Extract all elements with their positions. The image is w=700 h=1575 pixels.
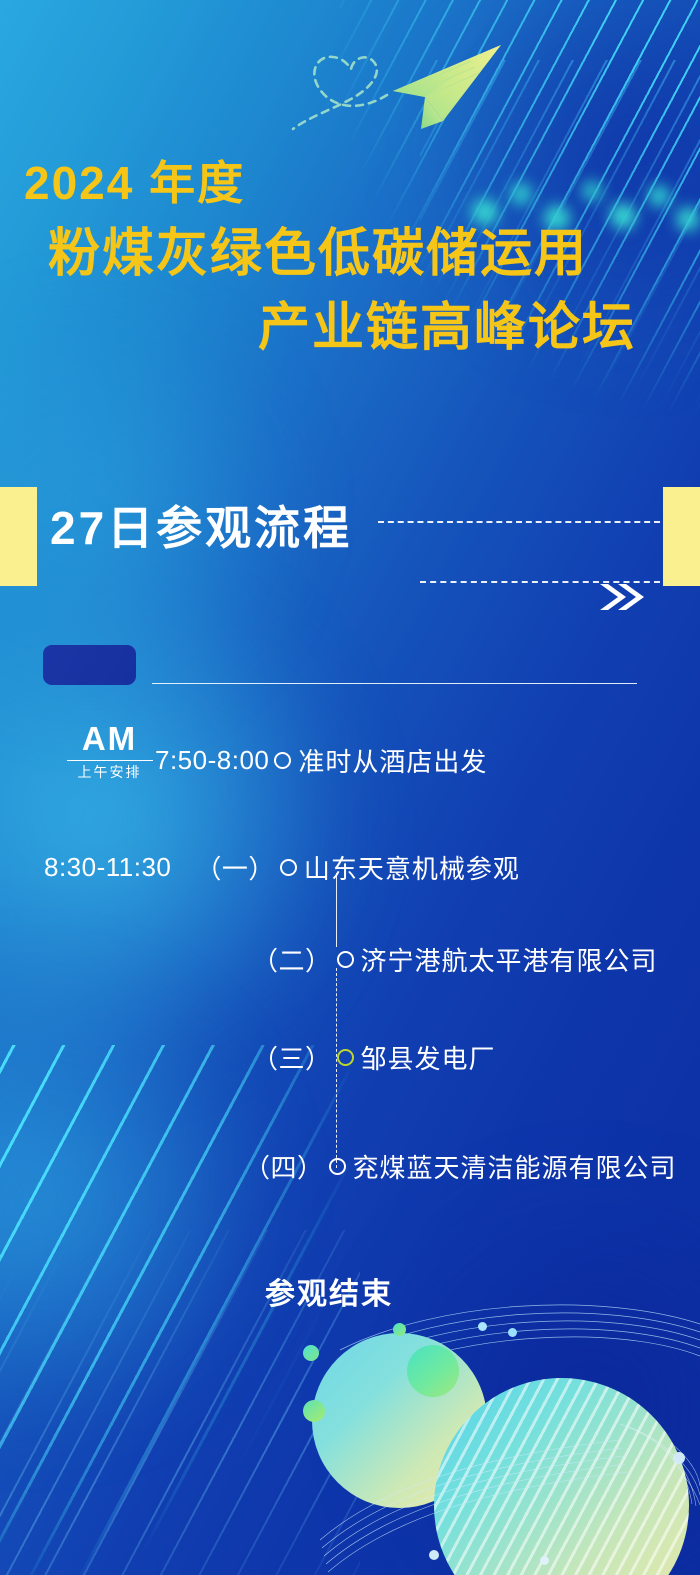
title-line-forum: 产业链高峰论坛 <box>258 302 700 354</box>
floating-dot <box>508 1328 517 1337</box>
floating-dot <box>429 1550 439 1560</box>
poster-title-block: 2024 年度 粉煤灰绿色低碳储运用 产业链高峰论坛 <box>0 160 700 354</box>
period-abbrev: AM <box>52 722 167 755</box>
sub-header-row <box>0 645 700 691</box>
schedule-time: 7:50-8:00 <box>155 745 269 776</box>
schedule-row: 7:50-8:00 准时从酒店出发 <box>155 742 487 779</box>
schedule-activity: 兖煤蓝天清洁能源有限公司 <box>353 1148 677 1185</box>
title-line-topic: 粉煤灰绿色低碳储运用 <box>48 228 700 280</box>
section-heading: 27日参观流程 <box>50 501 352 556</box>
schedule-activity: 准时从酒店出发 <box>298 742 487 779</box>
schedule-marker-dot <box>337 1049 354 1066</box>
period-sublabel: 上午安排 <box>52 765 167 779</box>
section-accent-bar-right <box>663 487 700 586</box>
schedule-index: （一） <box>195 849 275 886</box>
double-chevron-right-icon <box>598 580 648 614</box>
schedule-row: （三） 邹县发电厂 <box>252 1039 496 1076</box>
schedule-index: （三） <box>252 1039 332 1076</box>
schedule-activity: 山东天意机械参观 <box>304 849 520 886</box>
schedule-time: 8:30-11:30 <box>44 852 171 883</box>
schedule-marker-dot <box>280 859 297 876</box>
floating-dot <box>303 1345 319 1361</box>
schedule-row: （四） 兖煤蓝天清洁能源有限公司 <box>244 1148 677 1185</box>
paper-plane-icon <box>275 25 525 145</box>
floating-dot <box>673 1452 685 1464</box>
background-glow-left-upper <box>0 560 360 1080</box>
schedule-row: （二） 济宁港航太平港有限公司 <box>252 941 658 978</box>
background-glow-left-lower <box>0 960 280 1440</box>
poster-canvas: 2024 年度 粉煤灰绿色低碳储运用 产业链高峰论坛 27日参观流程 AM 上午… <box>0 0 700 1575</box>
paper-plane-decoration <box>275 25 525 145</box>
floating-dot <box>303 1400 325 1422</box>
sub-header-badge <box>43 645 136 685</box>
schedule-index: （四） <box>244 1148 324 1185</box>
floating-dot <box>540 1556 549 1565</box>
floating-dot <box>478 1322 487 1331</box>
schedule-activity: 济宁港航太平港有限公司 <box>361 941 658 978</box>
section-dashed-line-top <box>378 521 660 523</box>
schedule-marker-dot <box>274 752 291 769</box>
period-rule <box>67 760 153 761</box>
dashed-heart-trail-icon <box>293 57 387 129</box>
schedule-activity: 邹县发电厂 <box>361 1039 496 1076</box>
schedule-row: 8:30-11:30 （一） 山东天意机械参观 <box>44 849 520 886</box>
schedule-marker-dot <box>337 951 354 968</box>
sub-header-rule <box>152 683 637 684</box>
section-accent-bar-left <box>0 487 37 586</box>
schedule-end-label: 参观结束 <box>265 1269 393 1313</box>
floating-dot <box>393 1323 406 1336</box>
decorative-sphere-large <box>434 1378 689 1575</box>
schedule-index: （二） <box>252 941 332 978</box>
section-header: 27日参观流程 <box>0 487 700 592</box>
schedule-marker-dot <box>329 1158 346 1175</box>
title-line-year: 2024 年度 <box>24 160 700 206</box>
period-label-am: AM 上午安排 <box>52 722 167 779</box>
sphere-stripe-overlay <box>434 1378 689 1575</box>
